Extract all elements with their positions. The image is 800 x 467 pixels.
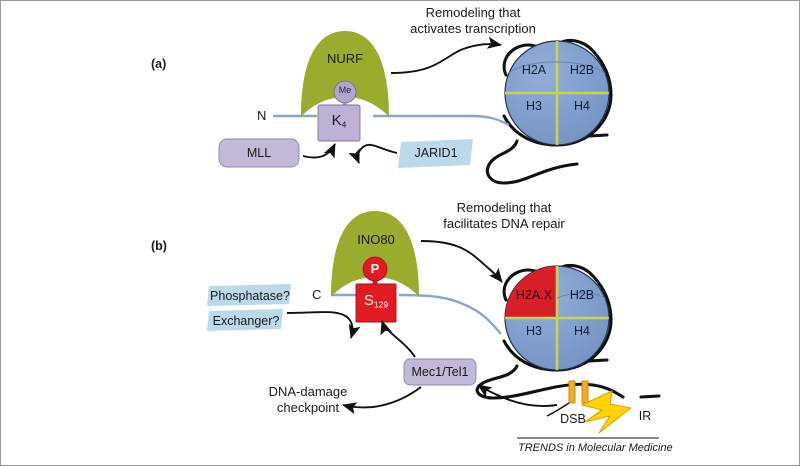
panel-label-b: (b) — [151, 239, 167, 254]
eraser-label-jarid1: JARID1 — [401, 146, 471, 161]
arrow-mec1tel1-to-s129 — [382, 321, 415, 357]
figure-container: (a) Remodeling that activates transcript… — [0, 0, 800, 466]
arrow-mll-to-k4 — [303, 144, 335, 158]
histone-label-h2b: H2B — [559, 63, 605, 78]
histone-label-h3: H3 — [511, 99, 557, 114]
phospho-mark-label: P — [365, 261, 385, 276]
terminus-label-c: C — [312, 287, 321, 302]
eraser-label-exchanger: Exchanger? — [207, 314, 285, 329]
residue-number-129: 129 — [374, 299, 388, 309]
lesion-label-dsb: DSB — [553, 412, 593, 427]
panel-b-caption-line1: Remodeling that — [399, 200, 609, 215]
remodeler-label-nurf: NURF — [319, 51, 371, 66]
outcome-label-line1: DNA-damage — [253, 384, 363, 399]
methyl-mark-label: Me — [335, 85, 355, 96]
source-label-ir: IR — [632, 409, 658, 424]
terminus-label-n: N — [257, 108, 266, 123]
residue-label-s129: S129 — [356, 292, 396, 310]
histone-tail-a — [273, 116, 509, 125]
histone-label-h2ax: H2A.X — [509, 288, 559, 303]
remodeler-label-ino80: INO80 — [345, 232, 407, 247]
kinase-label-mec1tel1: Mec1/Tel1 — [404, 365, 476, 380]
outcome-label-line2: checkpoint — [253, 400, 363, 415]
eraser-label-phosphatase: Phosphatase? — [209, 289, 291, 304]
histone-label-h4: H4 — [559, 99, 605, 114]
arrow-ino80-to-nucleosome-b — [421, 241, 502, 282]
panel-b-caption-line2: facilitates DNA repair — [399, 216, 609, 231]
residue-letter-k: K — [332, 112, 342, 129]
arrow-nurf-to-nucleosome-a — [391, 44, 501, 73]
arrow-erasers-to-s129 — [287, 312, 352, 338]
residue-number-4: 4 — [342, 119, 347, 129]
histone-label-h2a: H2A — [511, 63, 557, 78]
residue-letter-s: S — [364, 292, 374, 309]
arrow-jarid1-to-k4 — [358, 145, 397, 163]
panel-a-caption-line1: Remodeling that — [373, 5, 573, 20]
panel-a-caption-line2: activates transcription — [373, 21, 573, 36]
writer-label-mll: MLL — [219, 146, 299, 161]
histone-label-h2b-b: H2B — [559, 288, 605, 303]
histone-label-h4-b: H4 — [559, 324, 605, 339]
histone-label-h3-b: H3 — [511, 324, 557, 339]
journal-footer: TRENDS in Molecular Medicine — [518, 442, 673, 455]
panel-label-a: (a) — [151, 57, 166, 72]
residue-label-k4: K4 — [318, 112, 360, 130]
